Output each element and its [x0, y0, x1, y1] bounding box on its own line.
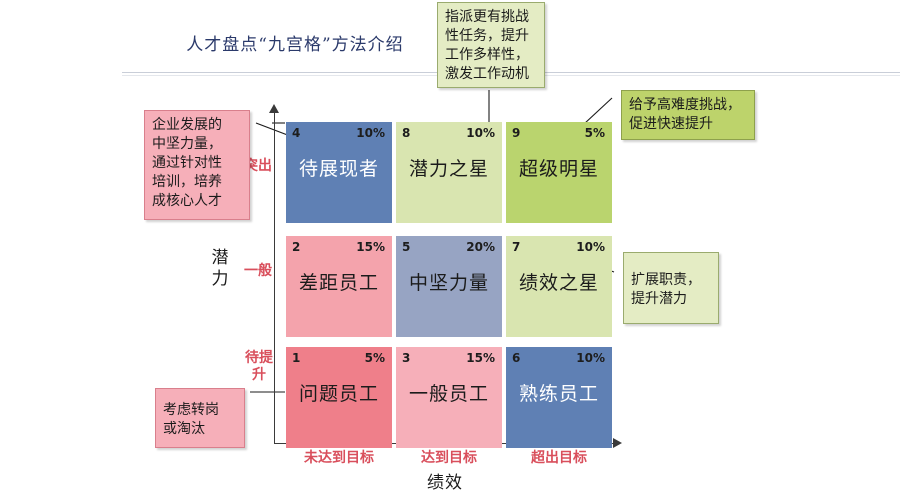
cell-label: 差距员工: [286, 268, 392, 295]
callout-right-top[interactable]: 给予高难度挑战， 促进快速提升: [621, 90, 755, 140]
grid-cell-6[interactable]: 6 10% 熟练员工: [506, 347, 612, 448]
cell-label: 绩效之星: [506, 268, 612, 295]
callout-top-center[interactable]: 指派更有挑战 性任务，提升 工作多样性， 激发工作动机: [437, 2, 545, 88]
x-tick-label-3: 超出目标: [499, 447, 619, 467]
grid-cell-3[interactable]: 3 15% 一般员工: [396, 347, 502, 448]
cell-percent: 5%: [585, 126, 605, 140]
cell-label: 潜力之星: [396, 154, 502, 181]
y-axis-arrow-icon: [269, 104, 279, 113]
cell-label: 熟练员工: [506, 379, 612, 406]
grid-cell-7[interactable]: 7 10% 绩效之星: [506, 236, 612, 337]
cell-percent: 15%: [466, 351, 495, 365]
cell-number: 8: [402, 126, 410, 140]
grid-cell-2[interactable]: 2 15% 差距员工: [286, 236, 392, 337]
y-axis-title: 潜 力: [205, 248, 235, 290]
grid-cell-4[interactable]: 4 10% 待展现者: [286, 122, 392, 223]
y-tick-label-3-line1: 待提: [245, 350, 273, 366]
callout-left-top[interactable]: 企业发展的 中坚力量， 通过针对性 培训，培养 成核心人才: [144, 110, 250, 220]
cell-label: 中坚力量: [396, 268, 502, 295]
x-tick-label-1: 未达到目标: [279, 447, 399, 467]
cell-percent: 5%: [365, 351, 385, 365]
grid-cell-1[interactable]: 1 5% 问题员工: [286, 347, 392, 448]
cell-number: 9: [512, 126, 520, 140]
callout-right-middle[interactable]: 扩展职责， 提升潜力: [623, 252, 719, 324]
slide-canvas: 人才盘点“九宫格”方法介绍 4 10% 待展现者 8 10% 潜力之星 9 5%…: [0, 0, 900, 501]
grid-cell-8[interactable]: 8 10% 潜力之星: [396, 122, 502, 223]
cell-percent: 20%: [466, 240, 495, 254]
cell-number: 6: [512, 351, 520, 365]
cell-label: 问题员工: [286, 379, 392, 406]
cell-number: 5: [402, 240, 410, 254]
cell-number: 3: [402, 351, 410, 365]
y-tick-label-3-line2: 升: [252, 367, 266, 383]
y-tick-label-2: 一般: [236, 263, 280, 280]
cell-number: 7: [512, 240, 520, 254]
cell-percent: 10%: [576, 351, 605, 365]
y-axis-title-line2: 力: [212, 269, 229, 289]
cell-number: 4: [292, 126, 300, 140]
cell-percent: 15%: [356, 240, 385, 254]
y-tick-label-3: 待提 升: [237, 350, 281, 384]
cell-number: 2: [292, 240, 300, 254]
grid-cell-5[interactable]: 5 20% 中坚力量: [396, 236, 502, 337]
cell-label: 待展现者: [286, 154, 392, 181]
page-title: 人才盘点“九宫格”方法介绍: [150, 30, 440, 55]
cell-number: 1: [292, 351, 300, 365]
cell-percent: 10%: [466, 126, 495, 140]
callout-left-bottom[interactable]: 考虑转岗 或淘汰: [155, 388, 245, 448]
cell-label: 一般员工: [396, 379, 502, 406]
cell-label: 超级明星: [506, 154, 612, 181]
cell-percent: 10%: [576, 240, 605, 254]
x-tick-label-2: 达到目标: [389, 447, 509, 467]
cell-percent: 10%: [356, 126, 385, 140]
grid-cell-9[interactable]: 9 5% 超级明星: [506, 122, 612, 223]
y-axis-title-line1: 潜: [212, 248, 229, 268]
x-axis-title: 绩效: [385, 468, 505, 493]
